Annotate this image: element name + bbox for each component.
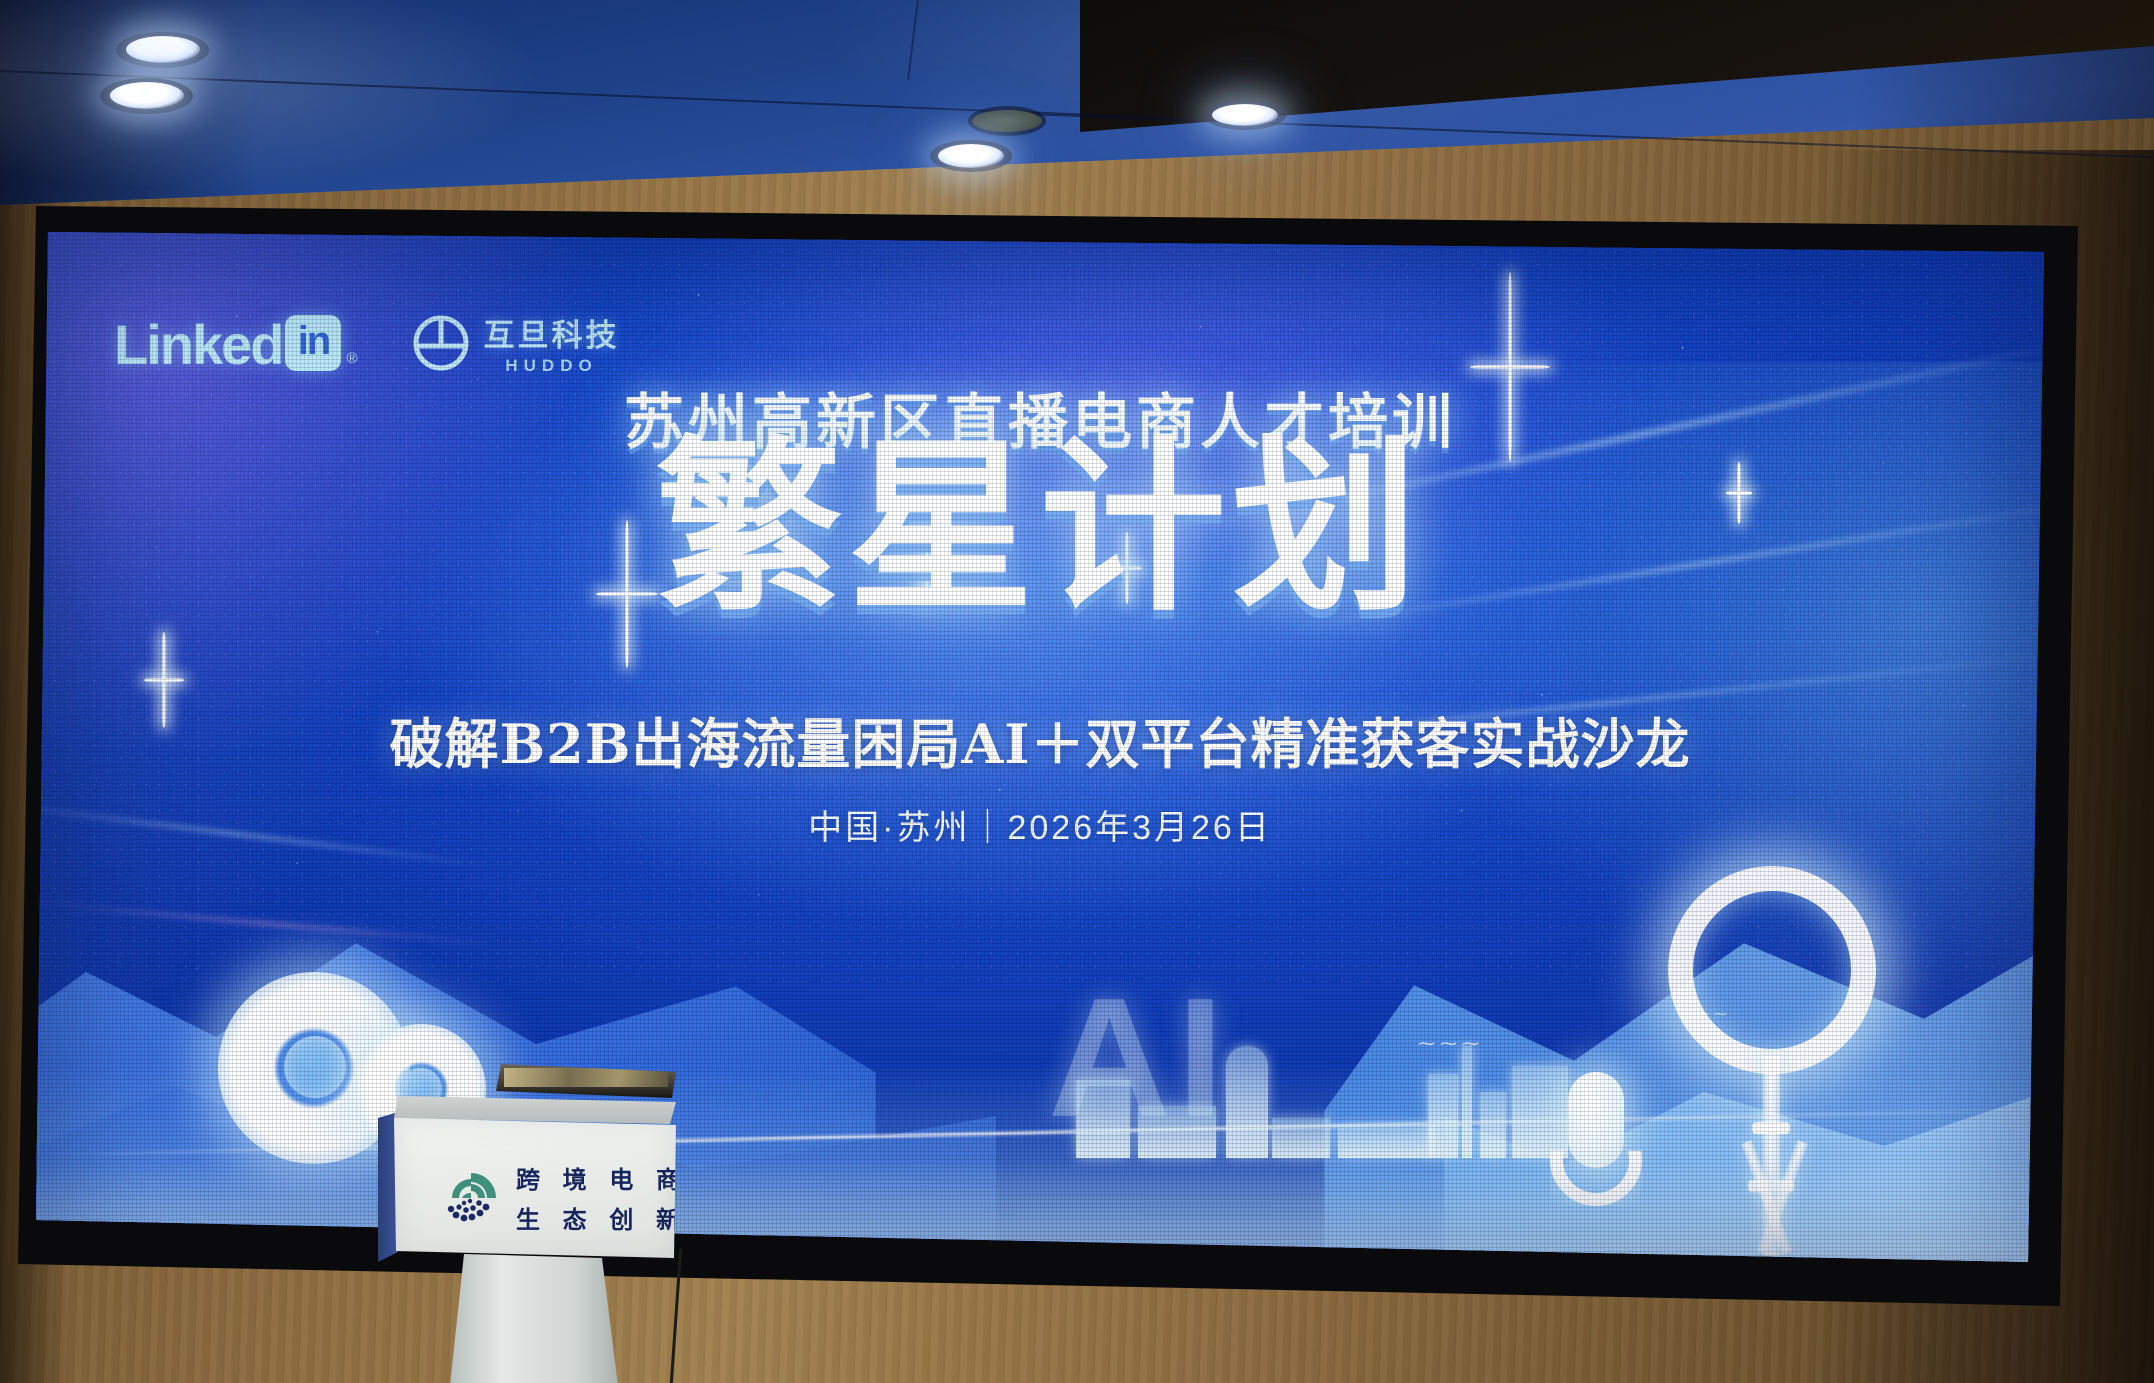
- partner-logo-text: 互旦科技 HUDDO: [484, 310, 620, 376]
- spiral-dots-icon: [440, 1167, 502, 1229]
- banner-logos: Linked in ® 互旦科技 HUDDO: [114, 310, 620, 376]
- skyline-building: [1138, 1106, 1216, 1158]
- skyline-building: [1226, 1046, 1268, 1158]
- partner-name-en: HUDDO: [505, 356, 597, 376]
- banner-date-location: 中国·苏州｜2026年3月26日: [36, 800, 2044, 849]
- birds-decoration: ⁓⁓⁓: [1418, 1034, 1484, 1054]
- linkedin-wordmark: Linked: [114, 319, 282, 371]
- banner-subtitle: 破解B2B出海流量困局AI＋双平台精准获客实战沙龙: [36, 700, 2044, 779]
- birds-decoration: ⁓⁓⁓: [1678, 1006, 1732, 1022]
- skyline-building: [1076, 1080, 1130, 1158]
- partner-name-cn: 互旦科技: [484, 310, 620, 355]
- ceiling-downlight-off: [972, 110, 1042, 132]
- skyline-building: [1428, 1074, 1458, 1158]
- registered-trademark-icon: ®: [346, 350, 357, 367]
- skyline-building: [1272, 1118, 1330, 1158]
- event-banner: AI: [36, 232, 2044, 1284]
- ceiling-downlight: [110, 82, 184, 109]
- ring-light-icon: [1668, 866, 1876, 1074]
- ceiling-downlight: [1212, 104, 1278, 126]
- skyline-building: [1480, 1092, 1506, 1158]
- podium: 跨 境 电 商 生 态 创 新 中 心: [378, 1096, 688, 1383]
- partner-logo: 互旦科技 HUDDO: [412, 310, 620, 376]
- skyline-tower-spire: [1462, 1046, 1472, 1158]
- laptop-screen: [504, 1068, 668, 1087]
- circle-cross-icon: [412, 314, 470, 372]
- conference-room-photo: AI: [0, 0, 2154, 1383]
- banner-main-title: 繁星计划: [36, 428, 2044, 625]
- skyline-building: [1338, 1124, 1434, 1158]
- skyline-building: [1512, 1066, 1568, 1158]
- linkedin-logo: Linked in ®: [114, 315, 358, 371]
- ceiling-downlight: [126, 36, 200, 63]
- podium-front-panel: 跨 境 电 商 生 态 创 新 中 心: [394, 1118, 676, 1258]
- linkedin-in-box: in: [285, 315, 341, 371]
- power-cable: [669, 1248, 682, 1383]
- podium-column: [450, 1254, 620, 1383]
- led-screen-display[interactable]: AI: [36, 232, 2044, 1284]
- camera-lens-core: [284, 1036, 346, 1098]
- city-skyline: [1076, 1008, 1636, 1158]
- ceiling-downlight: [938, 144, 1004, 168]
- tripod-knob: [1752, 1122, 1790, 1134]
